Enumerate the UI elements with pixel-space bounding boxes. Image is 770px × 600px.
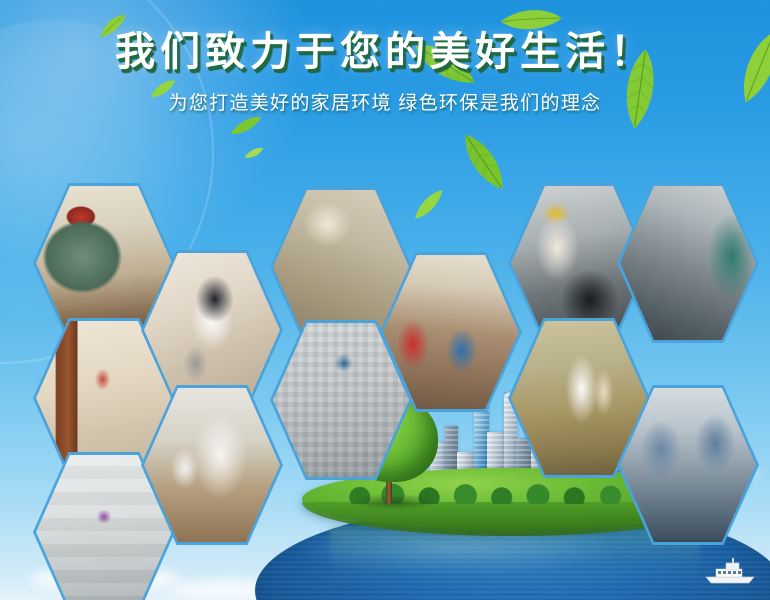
banner-root: 我们致力于您的美好生活！ 为您打造美好的家居环境 绿色环保是我们的理念 bbox=[0, 0, 770, 600]
headline-block: 我们致力于您的美好生活！ 为您打造美好的家居环境 绿色环保是我们的理念 bbox=[0, 30, 770, 115]
page-title: 我们致力于您的美好生活！ bbox=[115, 30, 655, 75]
hex-duct-cleaning[interactable] bbox=[617, 183, 759, 343]
page-subtitle: 为您打造美好的家居环境 绿色环保是我们的理念 bbox=[169, 88, 602, 115]
hex-duct-cleaning-photo bbox=[620, 186, 756, 340]
